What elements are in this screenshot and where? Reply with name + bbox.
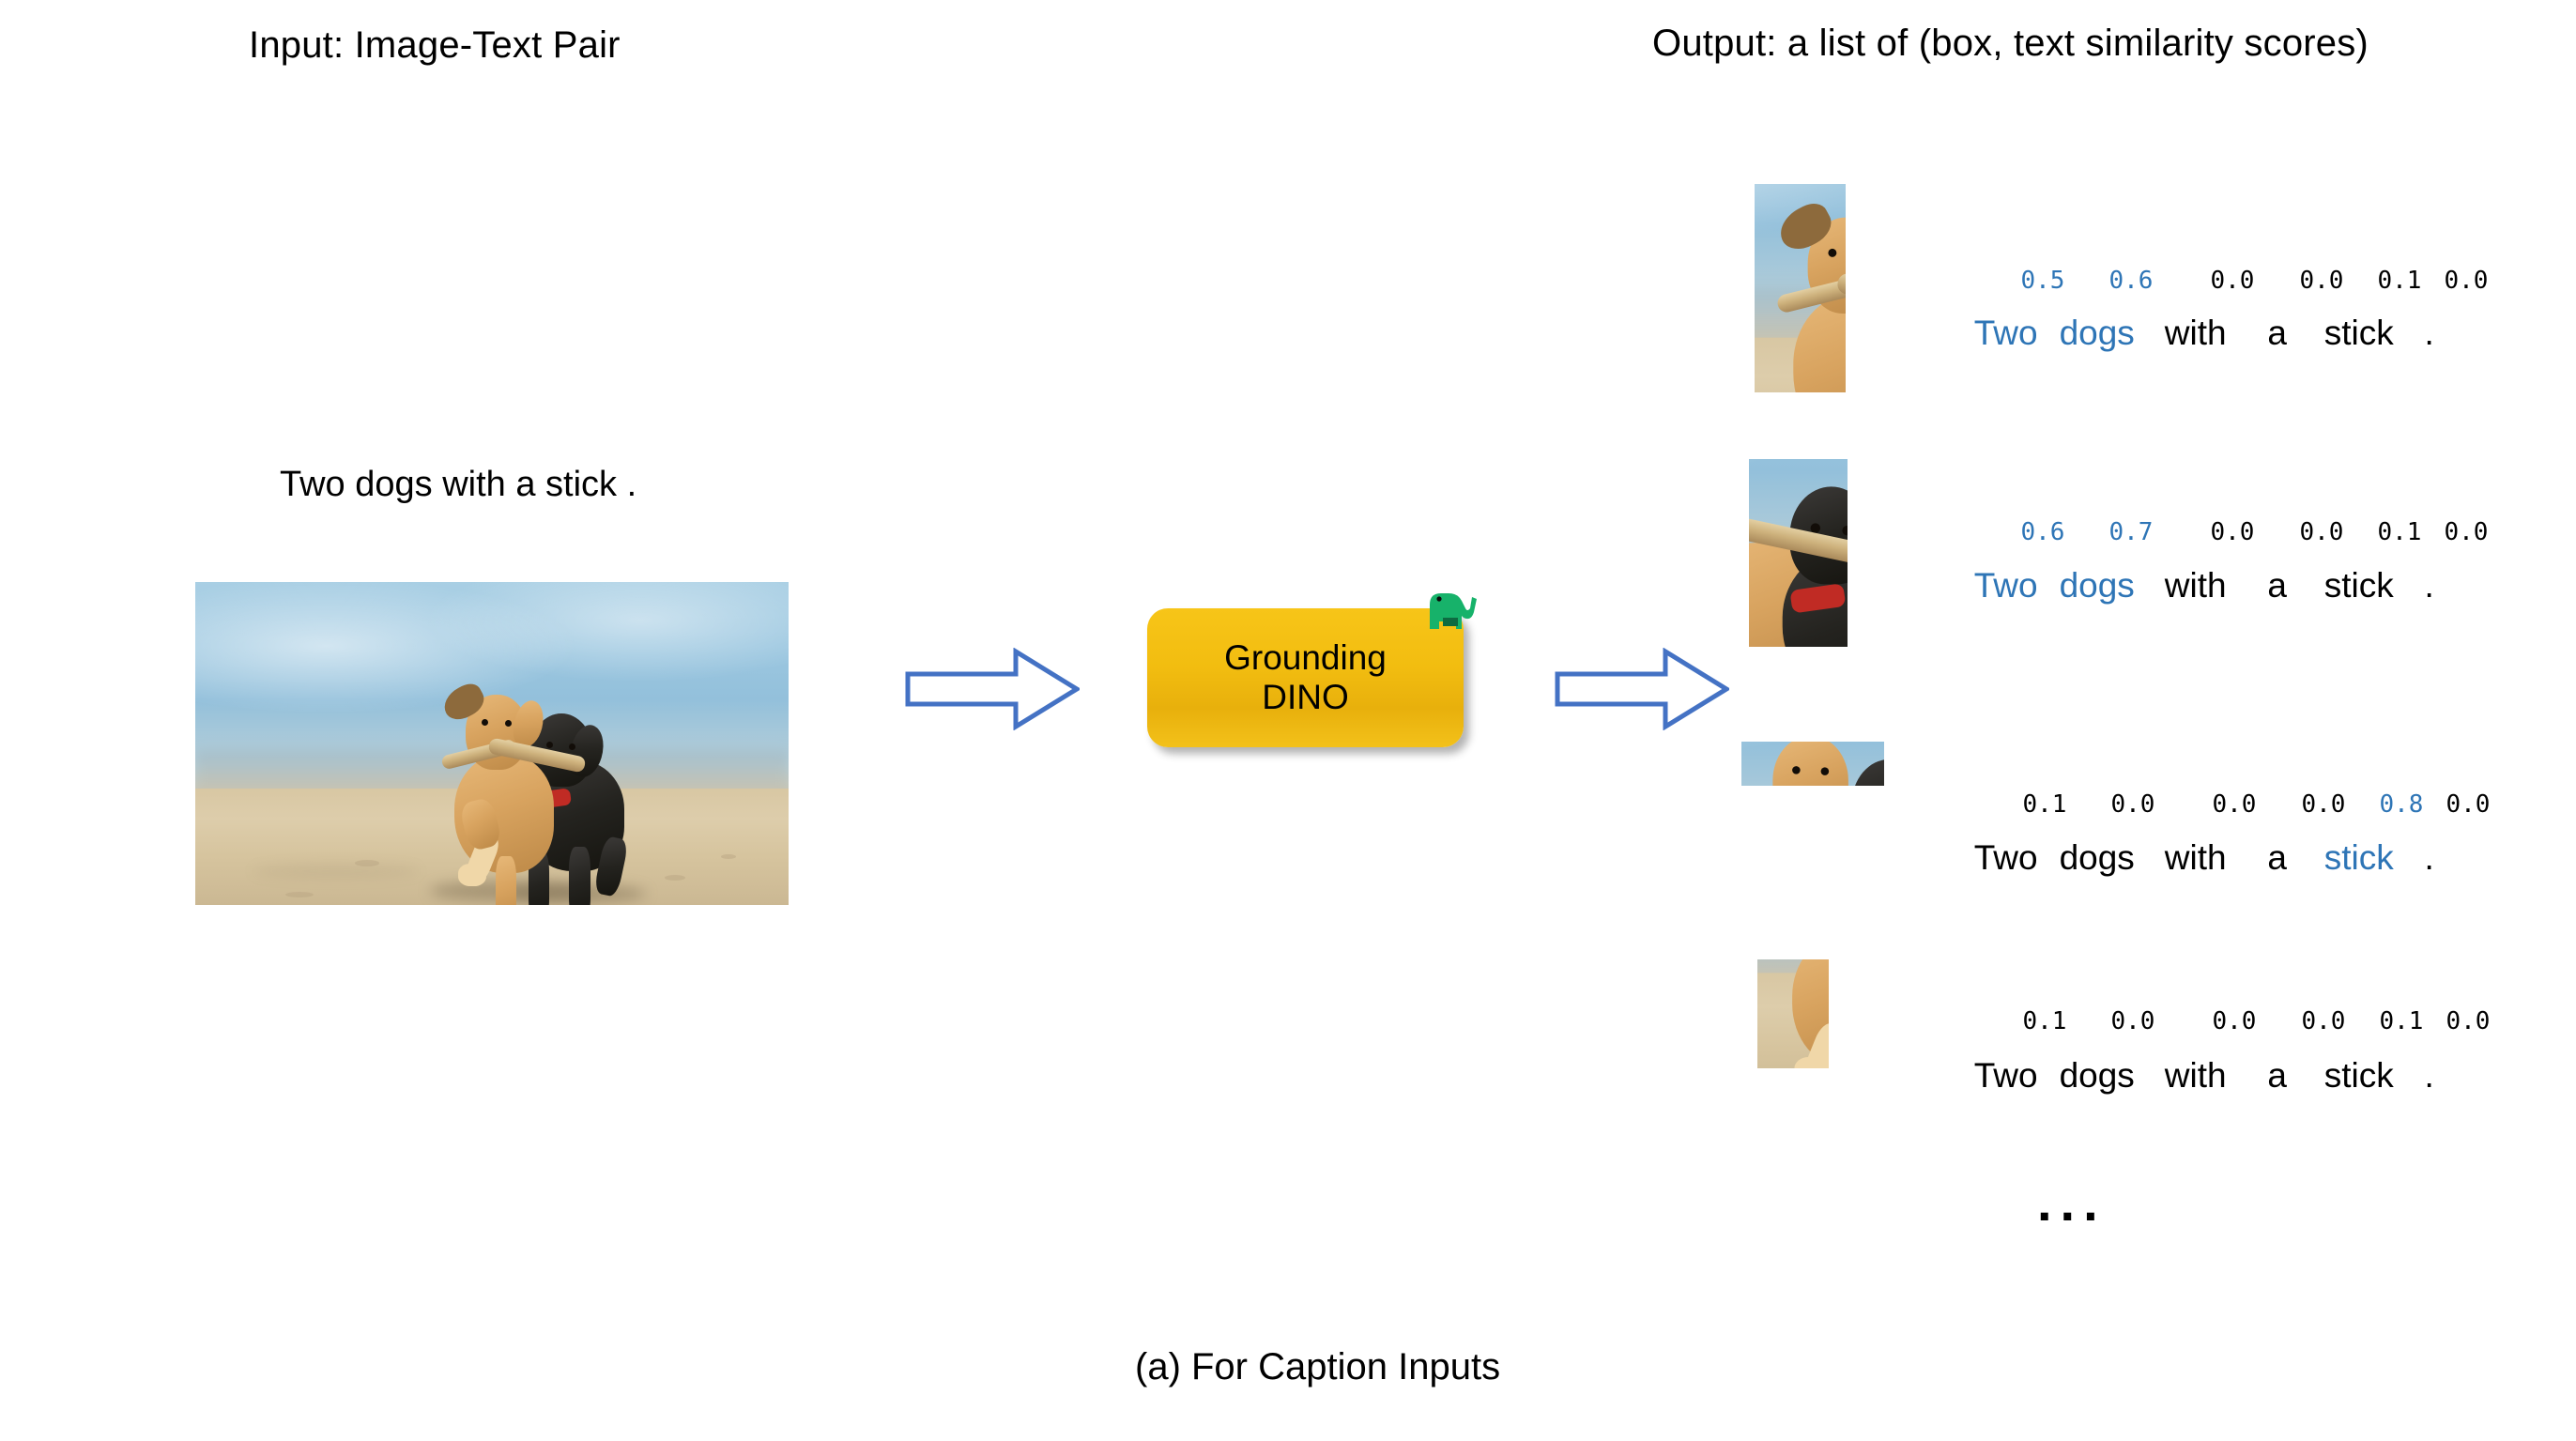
token-cell: Two	[1967, 314, 2046, 353]
figure-caption: (a) For Caption Inputs	[1135, 1346, 1500, 1388]
arrow-right-icon	[905, 648, 1080, 730]
token-cell: stick	[2312, 1056, 2406, 1096]
token-cell: stick	[2312, 314, 2406, 353]
token-cell: .	[2406, 1056, 2453, 1096]
token-cell: stick	[2312, 838, 2406, 878]
grounding-dino-box[interactable]: Grounding DINO	[1147, 608, 1464, 747]
stick-crop	[1741, 742, 1884, 786]
token-cell: stick	[2312, 566, 2406, 606]
token-cell: with	[2149, 1056, 2243, 1096]
paws-crop	[1757, 959, 1829, 1068]
token-cell: Two	[1967, 566, 2046, 606]
token-cell: with	[2149, 314, 2243, 353]
token-list: Twodogswithastick.	[1909, 274, 2453, 392]
beach-dogs-photo	[195, 582, 789, 905]
arrow-input-to-model	[905, 648, 1080, 730]
grounding-dino-label: Grounding DINO	[1224, 638, 1387, 717]
token-cell: with	[2149, 838, 2243, 878]
token-cell: dogs	[2046, 314, 2149, 353]
token-cell: .	[2406, 314, 2453, 353]
dinosaur-icon	[1420, 584, 1479, 631]
token-cell: dogs	[2046, 838, 2149, 878]
input-image	[195, 582, 789, 905]
sand-shadow	[252, 864, 421, 879]
token-cell: with	[2149, 566, 2243, 606]
more-results-ellipsis: ...	[2037, 1176, 2107, 1229]
token-cell: .	[2406, 566, 2453, 606]
token-cell: Two	[1967, 838, 2046, 878]
token-cell: Two	[1967, 1056, 2046, 1096]
input-title: Input: Image-Text Pair	[249, 24, 621, 67]
token-cell: dogs	[2046, 1056, 2149, 1096]
input-caption-text: Two dogs with a stick .	[280, 465, 636, 505]
token-cell: dogs	[2046, 566, 2149, 606]
token-list: Twodogswithastick.	[1909, 1017, 2453, 1135]
arrow-model-to-output	[1555, 648, 1729, 730]
tan-dog-crop	[1755, 184, 1846, 392]
black-dog-crop	[1749, 459, 1848, 647]
token-list: Twodogswithastick.	[1909, 527, 2453, 645]
token-cell: .	[2406, 838, 2453, 878]
token-list: Twodogswithastick.	[1909, 799, 2453, 917]
arrow-right-icon	[1555, 648, 1729, 730]
output-title: Output: a list of (box, text similarity …	[1652, 23, 2369, 65]
token-cell: a	[2243, 314, 2312, 353]
token-cell: a	[2243, 838, 2312, 878]
model-label-line2: DINO	[1224, 678, 1387, 717]
token-cell: a	[2243, 1056, 2312, 1096]
figure-canvas: Input: Image-Text Pair Output: a list of…	[0, 0, 2576, 1441]
model-label-line1: Grounding	[1224, 638, 1387, 678]
token-cell: a	[2243, 566, 2312, 606]
